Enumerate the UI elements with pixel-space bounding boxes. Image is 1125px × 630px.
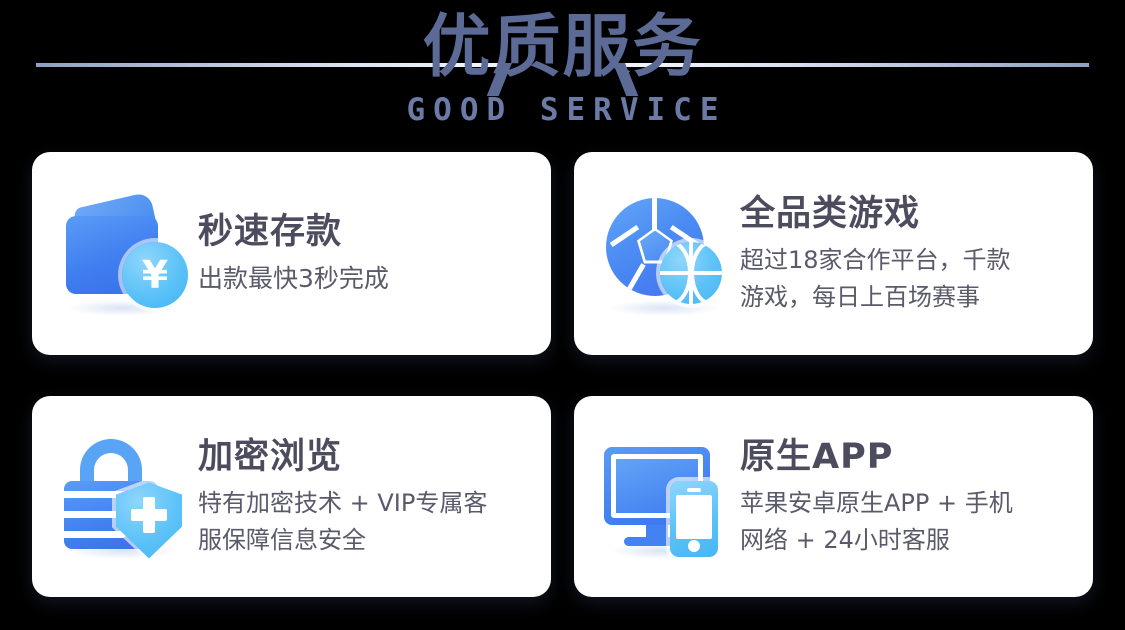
phone-home-button	[688, 540, 700, 552]
yen-coin-icon: ¥	[122, 242, 188, 308]
feature-card-deposit[interactable]: ¥ 秒速存款 出款最快3秒完成	[32, 152, 551, 355]
header-title-block: 优质服务 GOOD SERVICE	[0, 6, 1125, 128]
card-subtitle-line2: 游戏，每日上百场赛事	[740, 279, 1071, 316]
card-text-block: 原生APP 苹果安卓原生APP + 手机 网络 + 24小时客服	[740, 435, 1071, 559]
feature-card-native-app[interactable]: 原生APP 苹果安卓原生APP + 手机 网络 + 24小时客服	[574, 396, 1093, 597]
plus-icon-horizontal	[131, 509, 167, 521]
basketball-icon	[660, 242, 722, 304]
feature-card-encryption[interactable]: 加密浏览 特有加密技术 + VIP专属客 服保障信息安全	[32, 396, 551, 597]
card-subtitle-line2: 服保障信息安全	[198, 522, 529, 559]
page-title: 优质服务	[0, 6, 1125, 90]
card-text-block: 秒速存款 出款最快3秒完成	[198, 210, 529, 297]
card-subtitle-line1: 超过18家合作平台，千款	[740, 242, 1071, 279]
monitor-phone-icon	[602, 433, 730, 561]
card-text-block: 全品类游戏 超过18家合作平台，千款 游戏，每日上百场赛事	[740, 192, 1071, 316]
feature-card-grid: ¥ 秒速存款 出款最快3秒完成	[32, 152, 1093, 597]
card-title: 原生APP	[740, 435, 1071, 479]
phone-icon	[670, 481, 718, 557]
soccer-basketball-icon	[602, 190, 730, 318]
phone-speaker	[687, 488, 701, 492]
feature-card-games[interactable]: 全品类游戏 超过18家合作平台，千款 游戏，每日上百场赛事	[574, 152, 1093, 355]
yen-symbol: ¥	[122, 242, 188, 308]
banner-header: 优质服务 GOOD SERVICE	[0, 0, 1125, 150]
basketball-curve	[660, 242, 692, 304]
card-title: 秒速存款	[198, 210, 529, 254]
basketball-curve	[690, 242, 722, 304]
card-subtitle-line1: 苹果安卓原生APP + 手机	[740, 485, 1071, 522]
card-subtitle: 出款最快3秒完成	[198, 260, 529, 297]
lock-shield-icon	[60, 433, 188, 561]
card-text-block: 加密浏览 特有加密技术 + VIP专属客 服保障信息安全	[198, 435, 529, 559]
card-title: 加密浏览	[198, 435, 529, 479]
card-subtitle-line1: 特有加密技术 + VIP专属客	[198, 485, 529, 522]
card-subtitle-line2: 网络 + 24小时客服	[740, 522, 1071, 559]
wallet-coin-icon: ¥	[60, 190, 188, 318]
phone-screen	[676, 495, 712, 539]
soccer-seam	[652, 198, 657, 230]
page-subtitle: GOOD SERVICE	[0, 92, 1125, 128]
service-feature-banner: 优质服务 GOOD SERVICE ¥ 秒速存款 出款最快3秒完成	[0, 0, 1125, 630]
card-title: 全品类游戏	[740, 192, 1071, 236]
